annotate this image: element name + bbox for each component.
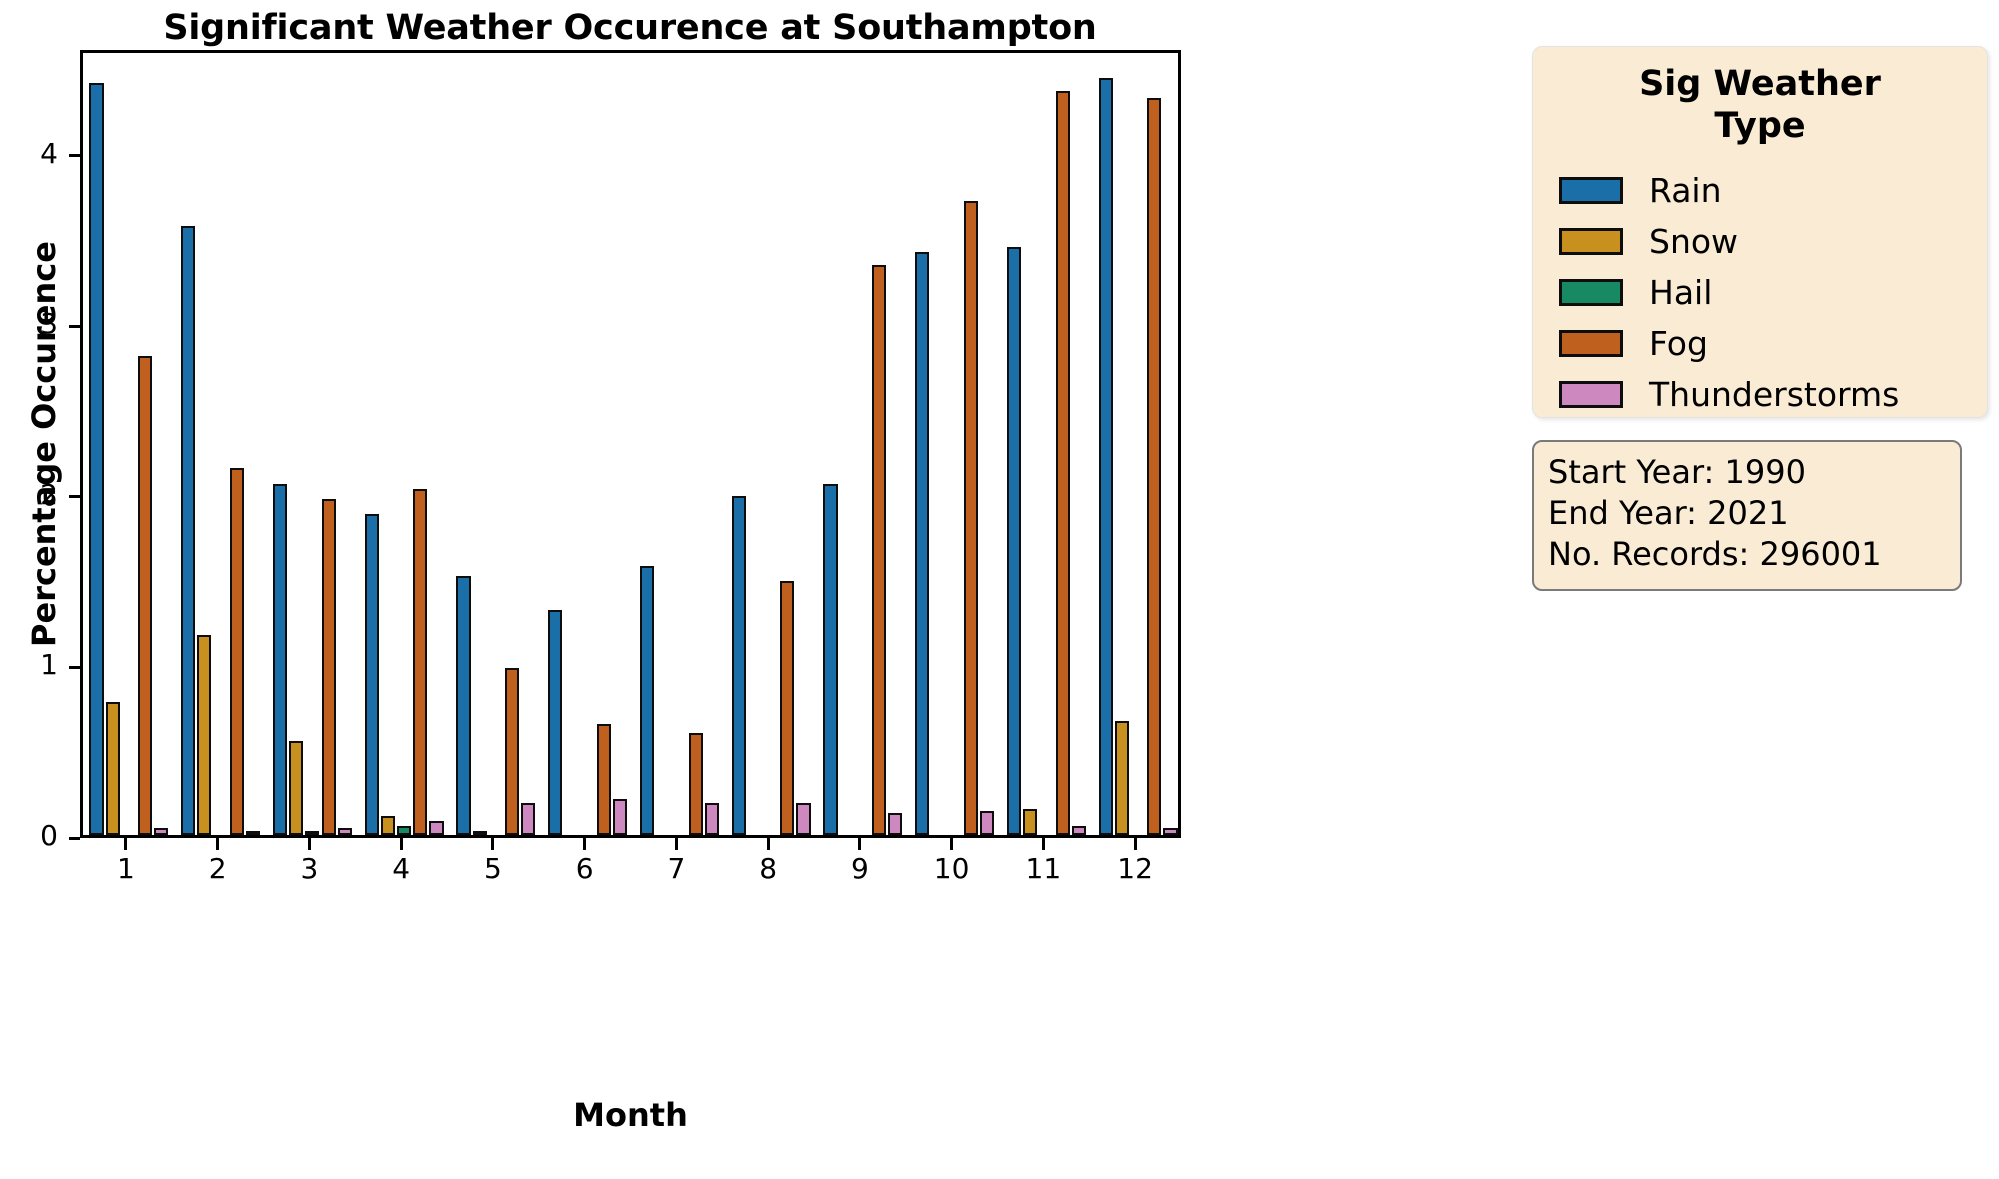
x-tick-mark bbox=[675, 838, 678, 850]
x-tick-label: 8 bbox=[728, 852, 808, 885]
x-tick-mark bbox=[491, 838, 494, 850]
bar-fog-month-5 bbox=[505, 668, 519, 835]
chart-page: Significant Weather Occurence at Southam… bbox=[0, 0, 1999, 1179]
x-tick-label: 1 bbox=[86, 852, 166, 885]
bar-snow-month-4 bbox=[381, 816, 395, 835]
bar-rain-month-11 bbox=[1007, 247, 1021, 835]
x-tick-label: 9 bbox=[820, 852, 900, 885]
bar-rain-month-2 bbox=[181, 226, 195, 835]
legend-item-hail[interactable]: Hail bbox=[1559, 267, 1977, 318]
bar-fog-month-3 bbox=[322, 499, 336, 835]
bar-thunderstorms-month-3 bbox=[338, 828, 352, 835]
legend-item-rain[interactable]: Rain bbox=[1559, 165, 1977, 216]
x-tick-label: 3 bbox=[269, 852, 349, 885]
legend-title-line-2: Type bbox=[1533, 105, 1987, 147]
bar-rain-month-7 bbox=[640, 566, 654, 835]
legend-swatch-icon bbox=[1559, 381, 1623, 408]
y-tick-label: 1 bbox=[0, 648, 58, 681]
x-tick-mark bbox=[767, 838, 770, 850]
bar-thunderstorms-month-7 bbox=[705, 803, 719, 835]
x-tick-mark bbox=[400, 838, 403, 850]
legend-item-snow[interactable]: Snow bbox=[1559, 216, 1977, 267]
x-tick-mark bbox=[124, 838, 127, 850]
bar-fog-month-8 bbox=[780, 581, 794, 835]
bar-thunderstorms-month-4 bbox=[429, 821, 443, 835]
legend-item-fog[interactable]: Fog bbox=[1559, 318, 1977, 369]
info-box: Start Year: 1990 End Year: 2021 No. Reco… bbox=[1532, 440, 1962, 591]
y-tick-mark bbox=[69, 325, 80, 328]
bar-rain-month-1 bbox=[89, 83, 103, 835]
bar-rain-month-4 bbox=[365, 514, 379, 835]
plot-area bbox=[80, 50, 1181, 838]
y-tick-label: 2 bbox=[0, 478, 58, 511]
x-tick-mark bbox=[950, 838, 953, 850]
x-tick-mark bbox=[216, 838, 219, 850]
bar-thunderstorms-month-9 bbox=[888, 813, 902, 835]
x-tick-label: 2 bbox=[178, 852, 258, 885]
bar-fog-month-10 bbox=[964, 201, 978, 835]
y-tick-mark bbox=[69, 837, 80, 840]
bar-thunderstorms-month-10 bbox=[980, 811, 994, 835]
x-tick-label: 11 bbox=[1003, 852, 1083, 885]
x-tick-mark bbox=[1042, 838, 1045, 850]
x-axis-label: Month bbox=[80, 1096, 1181, 1134]
bar-snow-month-1 bbox=[106, 702, 120, 835]
bar-thunderstorms-month-1 bbox=[154, 828, 168, 835]
x-tick-mark bbox=[858, 838, 861, 850]
legend-title-line-1: Sig Weather bbox=[1533, 63, 1987, 105]
legend-swatch-icon bbox=[1559, 228, 1623, 255]
bar-rain-month-5 bbox=[456, 576, 470, 835]
x-tick-label: 5 bbox=[453, 852, 533, 885]
x-tick-mark bbox=[308, 838, 311, 850]
bar-rain-month-9 bbox=[823, 484, 837, 835]
legend-swatch-icon bbox=[1559, 279, 1623, 306]
x-tick-label: 4 bbox=[361, 852, 441, 885]
bar-rain-month-6 bbox=[548, 610, 562, 835]
legend-swatch-icon bbox=[1559, 177, 1623, 204]
legend-item-label: Snow bbox=[1649, 222, 1738, 261]
bar-thunderstorms-month-8 bbox=[796, 803, 810, 835]
bar-snow-month-12 bbox=[1115, 721, 1129, 835]
records-count-text: No. Records: 296001 bbox=[1548, 534, 1946, 575]
legend-item-label: Fog bbox=[1649, 324, 1708, 363]
bar-fog-month-9 bbox=[872, 265, 886, 835]
bar-rain-month-8 bbox=[732, 496, 746, 835]
y-tick-mark bbox=[69, 154, 80, 157]
legend: Sig Weather Type RainSnowHailFogThunders… bbox=[1532, 46, 1988, 418]
legend-swatch-icon bbox=[1559, 330, 1623, 357]
bar-snow-month-11 bbox=[1023, 809, 1037, 835]
x-tick-mark bbox=[583, 838, 586, 850]
y-tick-label: 3 bbox=[0, 307, 58, 340]
bar-rain-month-12 bbox=[1099, 78, 1113, 835]
bar-fog-month-6 bbox=[597, 724, 611, 835]
legend-item-label: Thunderstorms bbox=[1649, 375, 1899, 414]
legend-items: RainSnowHailFogThunderstorms bbox=[1559, 165, 1977, 420]
legend-item-label: Rain bbox=[1649, 171, 1722, 210]
bars-container bbox=[83, 53, 1178, 835]
bar-thunderstorms-month-6 bbox=[613, 799, 627, 835]
y-tick-mark bbox=[69, 495, 80, 498]
x-tick-mark bbox=[1134, 838, 1137, 850]
bar-thunderstorms-month-2 bbox=[246, 831, 260, 835]
x-tick-label: 10 bbox=[912, 852, 992, 885]
bar-thunderstorms-month-11 bbox=[1072, 826, 1086, 835]
bar-snow-month-3 bbox=[289, 741, 303, 835]
bar-thunderstorms-month-5 bbox=[521, 803, 535, 835]
bar-snow-month-2 bbox=[197, 635, 211, 835]
legend-item-thunderstorms[interactable]: Thunderstorms bbox=[1559, 369, 1977, 420]
y-tick-label: 4 bbox=[0, 137, 58, 170]
start-year-text: Start Year: 1990 bbox=[1548, 452, 1946, 493]
x-tick-label: 7 bbox=[636, 852, 716, 885]
bar-fog-month-2 bbox=[230, 468, 244, 835]
bar-snow-month-5 bbox=[473, 831, 487, 835]
legend-item-label: Hail bbox=[1649, 273, 1712, 312]
x-tick-label: 6 bbox=[545, 852, 625, 885]
legend-title: Sig Weather Type bbox=[1533, 63, 1987, 147]
bar-fog-month-11 bbox=[1056, 91, 1070, 835]
bar-fog-month-7 bbox=[689, 733, 703, 835]
bar-thunderstorms-month-12 bbox=[1163, 828, 1177, 835]
x-tick-label: 12 bbox=[1095, 852, 1175, 885]
end-year-text: End Year: 2021 bbox=[1548, 493, 1946, 534]
bar-hail-month-4 bbox=[397, 826, 411, 835]
bar-rain-month-10 bbox=[915, 252, 929, 835]
bar-hail-month-3 bbox=[305, 831, 319, 835]
y-tick-label: 0 bbox=[0, 819, 58, 852]
bar-fog-month-12 bbox=[1147, 98, 1161, 835]
y-tick-mark bbox=[69, 666, 80, 669]
bar-fog-month-4 bbox=[413, 489, 427, 835]
page-title: Significant Weather Occurence at Southam… bbox=[80, 8, 1180, 48]
bar-rain-month-3 bbox=[273, 484, 287, 835]
bar-fog-month-1 bbox=[138, 356, 152, 835]
